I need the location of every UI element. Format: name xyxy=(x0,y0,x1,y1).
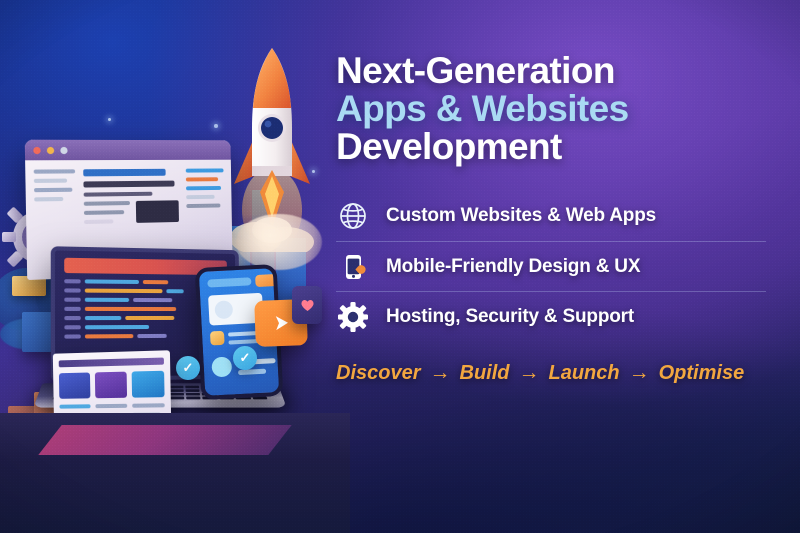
arrow-icon-1: → xyxy=(430,361,451,385)
arrow-icon-2: → xyxy=(519,361,540,385)
feature-list: Custom Websites & Web Apps Mobile-Friend… xyxy=(336,191,766,341)
headline-block: Next-Generation Apps & Websites Developm… xyxy=(336,52,766,166)
feature-row-mobile: Mobile-Friendly Design & UX xyxy=(336,241,766,291)
window-maximize-dot[interactable] xyxy=(60,146,67,153)
heart-chip xyxy=(292,286,322,324)
process-tagline: Discover → Build → Launch → Optimise xyxy=(336,361,766,385)
card-header-bar xyxy=(59,358,164,368)
feature-label-mobile: Mobile-Friendly Design & UX xyxy=(386,256,640,278)
browser-titlebar xyxy=(25,140,231,161)
promo-banner: ✓ ✓ Next-Generation Apps & Websites Deve… xyxy=(0,0,800,533)
feature-row-hosting: Hosting, Security & Support xyxy=(336,291,766,341)
content-column: Next-Generation Apps & Websites Developm… xyxy=(336,52,766,385)
headline-line-1: Next-Generation xyxy=(336,52,766,90)
process-step-optimise: Optimise xyxy=(659,362,745,385)
play-icon xyxy=(271,313,292,334)
gear-icon xyxy=(336,302,370,332)
check-badge-two: ✓ xyxy=(176,356,200,380)
check-badge-one: ✓ xyxy=(233,346,257,370)
feature-label-hosting: Hosting, Security & Support xyxy=(386,306,634,328)
arrow-icon-3: → xyxy=(629,361,650,385)
window-close-dot[interactable] xyxy=(33,146,40,153)
heart-icon xyxy=(300,298,315,312)
process-step-build: Build xyxy=(460,362,510,385)
globe-icon xyxy=(336,201,370,231)
window-minimize-dot[interactable] xyxy=(47,146,54,153)
desk-surface xyxy=(0,413,350,533)
headline-line-3: Development xyxy=(336,128,766,166)
process-step-discover: Discover xyxy=(336,362,421,385)
mousepad xyxy=(38,425,291,455)
headline-line-2: Apps & Websites xyxy=(336,90,766,128)
mobile-icon xyxy=(336,252,370,282)
process-step-launch: Launch xyxy=(549,362,620,385)
card-color-tiles xyxy=(59,371,165,399)
feature-label-websites: Custom Websites & Web Apps xyxy=(386,205,656,227)
feature-row-websites: Custom Websites & Web Apps xyxy=(336,191,766,241)
